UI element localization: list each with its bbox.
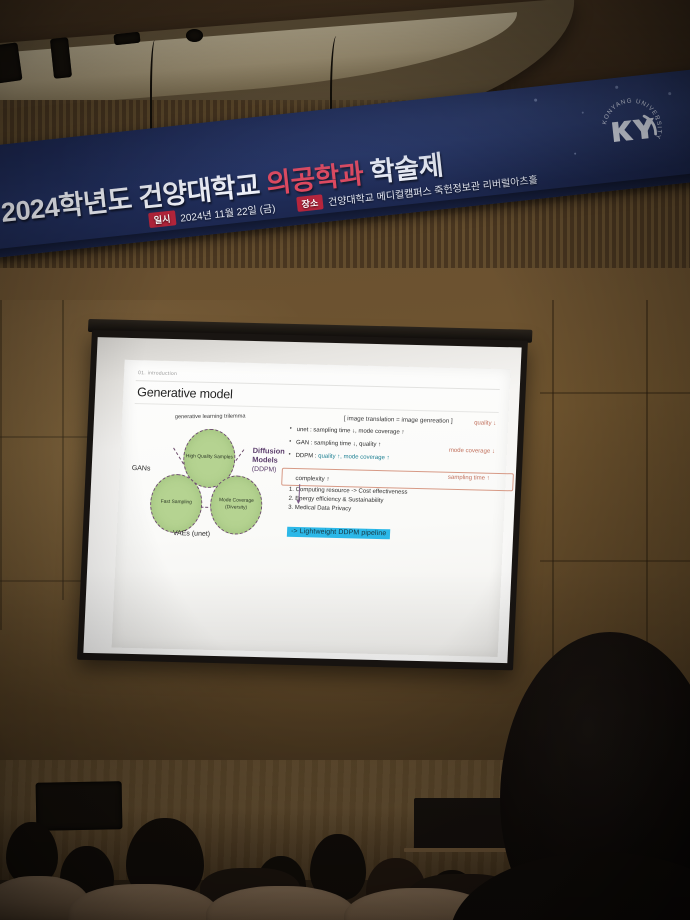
auditorium-photo: 2024학년도 건양대학교 의공학과 학술제 일시2024년 11월 22일 (…: [0, 0, 690, 920]
trilemma-label-vaes: VAEs (unet): [173, 530, 211, 538]
wall-seam-v-1: [62, 300, 64, 600]
bubble-label: Mode Coverage (Diversity): [211, 498, 262, 512]
bubble-label: Fast Sampling: [160, 500, 192, 507]
slide-kicker: 01. introduction: [138, 370, 500, 385]
annotation-sampling-time-up: sampling time ↑: [448, 475, 490, 482]
trilemma-label-gans: GANs: [132, 465, 151, 472]
conclusion-highlight: -> Lightweight DDPM pipeline: [287, 526, 391, 539]
screen-surface: 01. introduction Generative model genera…: [83, 337, 521, 663]
bullet-text: DDPM :: [295, 453, 318, 460]
trilemma-bubble-fast-sampling: Fast Sampling: [149, 473, 204, 533]
projection-screen: 01. introduction Generative model genera…: [77, 330, 528, 670]
complexity-factor-list: 1. Computing resource -> Cost effectiven…: [288, 486, 495, 518]
trilemma-panel: generative learning trilemma High Qualit…: [129, 410, 287, 541]
bullet-text: GAN : sampling time ↓, quality ↑: [296, 440, 381, 448]
audience-head-1: [6, 822, 58, 884]
konyang-university-logo-icon: KONYANG UNIVERSITY: [594, 91, 669, 166]
trilemma-venn-diagram: High Quality Samples Fast Sampling Mode …: [131, 419, 284, 540]
trilemma-bubble-mode-coverage: Mode Coverage (Diversity): [209, 475, 264, 535]
floor-monitor-speaker: [36, 781, 123, 830]
place-badge: 장소: [296, 194, 324, 212]
wall-seam-h-1: [0, 436, 96, 438]
explanation-panel: [ image translation = image genreation ]…: [285, 414, 499, 546]
bullet-highlight: quality ↑, mode coverage ↑: [318, 454, 390, 462]
banner-title-part-1: 2024학년도 건양대학교: [0, 169, 268, 228]
slide-body: generative learning trilemma High Qualit…: [129, 410, 499, 546]
diffusion-plain-text: (DDPM): [252, 466, 277, 474]
date-badge: 일시: [148, 210, 176, 228]
annotation-quality-down: quality ↓: [474, 420, 496, 427]
banner-title-accent: 의공학과: [265, 159, 365, 199]
wall-seam-h-3: [540, 392, 690, 394]
bullet-unet: unet : sampling time ↓, mode coverage ↑: [290, 427, 498, 438]
diffusion-bold-text: Diffusion Models: [252, 446, 285, 465]
trilemma-label-diffusion: Diffusion Models (DDPM): [252, 446, 285, 475]
banner-title-part-2: 학술제: [362, 150, 445, 188]
ceiling-dome-camera: [186, 29, 203, 42]
bubble-label: High Quality Samples: [186, 454, 233, 462]
svg-text:KONYANG UNIVERSITY: KONYANG UNIVERSITY: [599, 94, 664, 146]
lectern-laptop: [414, 798, 510, 850]
image-translation-heading: [ image translation = image genreation ]: [298, 414, 498, 426]
bullet-text: unet : sampling time ↓, mode coverage ↑: [297, 427, 405, 436]
presentation-slide: 01. introduction Generative model genera…: [112, 360, 511, 657]
wall-seam-h-4: [540, 560, 690, 562]
bullet-ddpm: DDPM : quality ↑, mode coverage ↑: [288, 453, 496, 464]
model-bullet-list: unet : sampling time ↓, mode coverage ↑ …: [288, 427, 497, 464]
annotation-mode-coverage-down: mode coverage ↓: [449, 448, 495, 455]
